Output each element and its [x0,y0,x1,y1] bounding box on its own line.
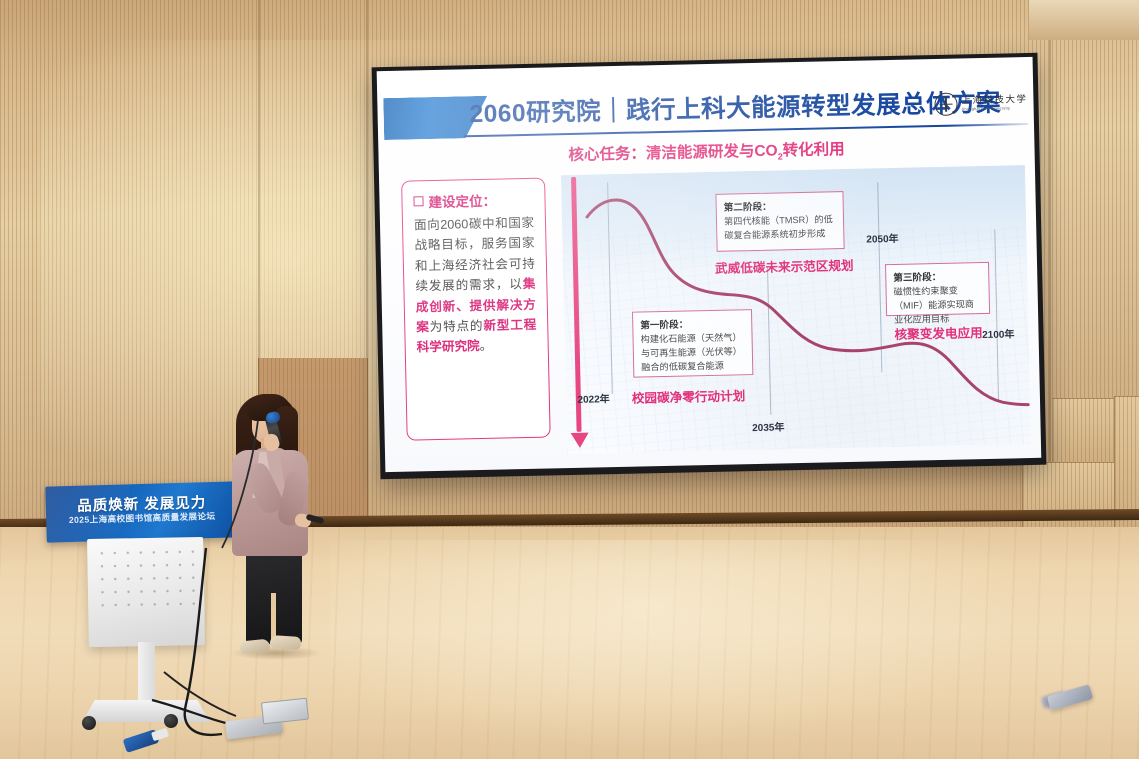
shanghaitech-logo-icon [934,93,957,116]
core-task-subtitle: 核心任务：清洁能源研发与CO2转化利用 [378,133,1034,170]
podium-column [138,642,155,708]
phase-1-text: 构建化石能源（天然气）与可再生能源（光伏等）融合的低碳复合能源 [640,331,745,375]
callout-body: 面向2060碳中和国家战略目标，服务国家和上海经济社会可持续发展的需求，以集成创… [414,213,537,358]
callout-heading: 建设定位： [413,189,533,212]
university-logo: 上海科技大学 ShanghaiTech University [934,91,1027,116]
podium-perforation [95,545,196,613]
phase-3-title: 第三阶段： [893,268,981,284]
conference-room-scene: 2060研究院｜践行上科大能源转型发展总体方案 上海科技大学 ShanghaiT… [0,0,1139,759]
logo-label-cn: 上海科技大学 [961,95,1027,106]
caster-wheel [164,714,178,728]
podium-banner: 品质焕新 发展见力 2025上海高校图书馆高质量发展论坛 [45,481,238,542]
positioning-callout-box: 建设定位： 面向2060碳中和国家战略目标，服务国家和上海经济社会可持续发展的需… [401,178,551,441]
callout-seg-4: 。 [480,339,493,353]
presentation-slide: 2060研究院｜践行上科大能源转型发展总体方案 上海科技大学 ShanghaiT… [377,57,1042,472]
podium-banner-subtitle: 2025上海高校图书馆高质量发展论坛 [46,509,238,526]
phase-1-title: 第一阶段： [640,315,744,331]
phase-2-text: 第四代核能（TMSR）的低碳复合能源系统初步形成 [724,213,837,243]
caster-wheel [82,716,96,730]
podium[interactable]: 品质焕新 发展见力 2025上海高校图书馆高质量发展论坛 [46,484,238,734]
emissions-roadmap-chart: CO2 排放量 2022年 2035年 2050年 2100年 第二阶段： 第四… [561,165,1031,454]
shoe-right [270,635,302,650]
phase-3-box: 第三阶段： 磁惯性约束聚变（MIF）能源实现商业化应用目标 [885,262,990,316]
callout-heading-label: 建设定位： [428,190,496,211]
core-task-text-a: 清洁能源研发与CO [646,142,778,162]
phase-2-caption: 武威低碳未来示范区规划 [715,255,854,277]
phase-1-caption: 校园碳净零行动计划 [632,385,746,406]
projection-screen[interactable]: 2060研究院｜践行上科大能源转型发展总体方案 上海科技大学 ShanghaiT… [372,53,1047,479]
square-bullet-icon [413,196,423,206]
phase-3-caption: 核聚变发电应用 [894,322,983,343]
phase-2-title: 第二阶段： [724,197,836,213]
wall-panel [1052,398,1116,466]
podium-desktop [87,537,205,647]
slide-title: 2060研究院｜践行上科大能源转型发展总体方案 [469,85,942,130]
presenter [216,388,338,672]
callout-seg-0: 面向2060碳中和国家战略目标，服务国家和上海经济社会可持续发展的需求，以 [414,216,535,294]
phase-2-box: 第二阶段： 第四代核能（TMSR）的低碳复合能源系统初步形成 [715,191,844,252]
ceiling-slab [1029,0,1139,40]
podium-base [82,700,210,722]
callout-seg-2: 为特点的 [430,319,484,334]
phase-1-box: 第一阶段： 构建化石能源（天然气）与可再生能源（光伏等）融合的低碳复合能源 [632,309,753,378]
core-task-lead: 核心任务： [568,145,646,164]
core-task-text-b: 转化利用 [782,141,844,159]
logo-label-en: ShanghaiTech University [962,106,1028,111]
